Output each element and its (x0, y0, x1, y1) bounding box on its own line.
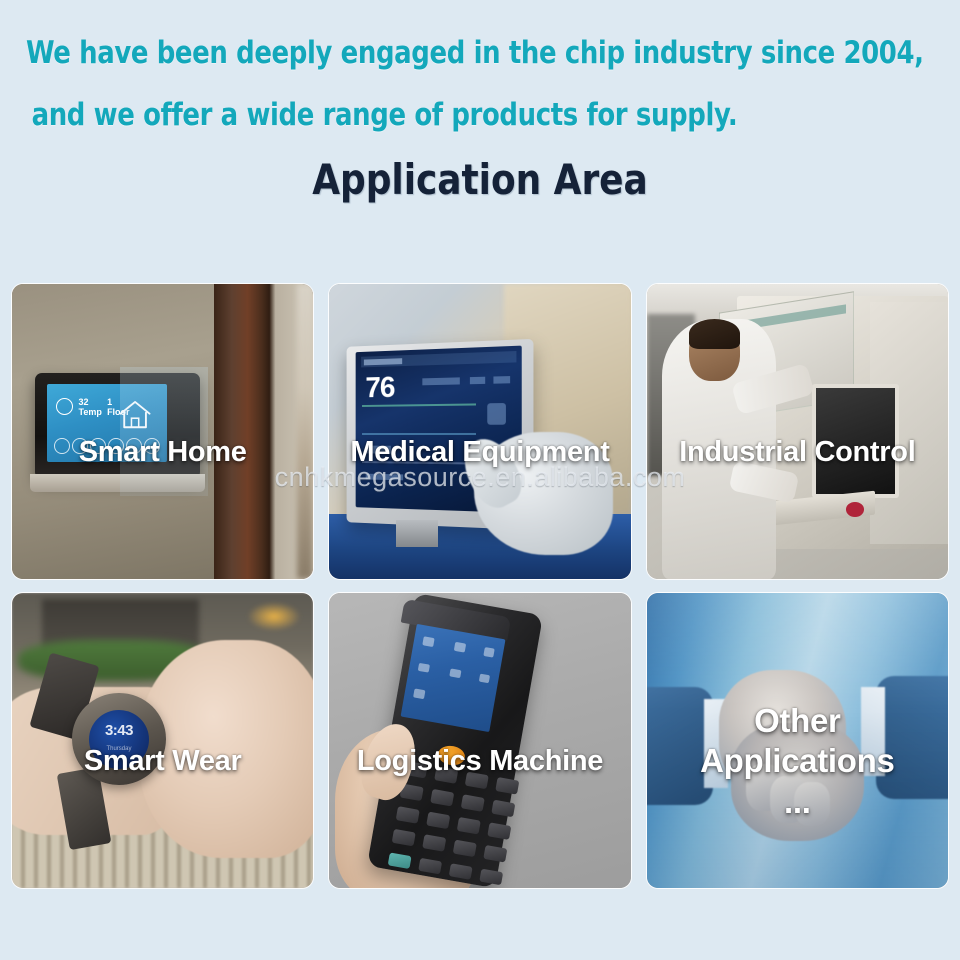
keypad-key (460, 794, 484, 811)
keypad-key (487, 823, 511, 840)
control-icon-light (54, 438, 70, 454)
control-icon-ac (90, 438, 106, 454)
desktop-icon-2 (453, 642, 465, 652)
control-icon-fan (72, 438, 88, 454)
keypad-key (452, 840, 476, 857)
keypad-key (391, 829, 415, 846)
card-other-applications[interactable]: Other Applications ... (647, 593, 948, 888)
monitor-info-bar-2 (470, 377, 486, 384)
emergency-stop-button (846, 502, 864, 517)
smartwatch-face: 3:43 Thursday (89, 710, 149, 769)
card-smart-home[interactable]: 32 Temp 1 Floor (12, 284, 313, 579)
keypad-key (426, 812, 450, 829)
page-title: Application Area (24, 155, 936, 204)
headline-block: We have been deeply engaged in the chip … (0, 22, 960, 146)
keypad-key (495, 777, 519, 794)
smart-home-scene: 32 Temp 1 Floor (12, 284, 313, 579)
keypad-key (422, 835, 446, 852)
vital-sign-value: 76 (366, 372, 395, 406)
background-room (297, 284, 313, 579)
temperature-value: 32 (79, 397, 102, 407)
desktop-icon-6 (478, 674, 490, 684)
keypad-key (395, 806, 419, 823)
monitor-info-bar-5 (366, 474, 404, 481)
monitor-info-bar-3 (494, 376, 510, 383)
watch-time: 3:43 (89, 722, 149, 739)
headline-line-2: and we offer a wide range of products fo… (26, 84, 870, 146)
card-industrial-control[interactable]: Industrial Control (647, 284, 948, 579)
waveform-trace-3 (363, 461, 477, 464)
temperature-label: Temp (79, 407, 102, 417)
logistics-machine-scene (329, 593, 630, 888)
waveform-trace-2 (363, 433, 477, 435)
keypad-key (464, 772, 488, 789)
terminal-screen (400, 624, 505, 733)
application-area-grid: 32 Temp 1 Floor (12, 284, 948, 888)
card-logistics-machine[interactable]: Logistics Machine (329, 593, 630, 888)
wood-door-frame (214, 284, 313, 579)
warm-light-blur (247, 602, 301, 632)
card-medical-equipment[interactable]: 76 Medical Equipment (329, 284, 630, 579)
glass-reflection (120, 367, 207, 497)
desktop-icon-3 (483, 648, 495, 658)
desktop-icon-4 (417, 663, 429, 673)
monitor-top-bar (361, 351, 517, 368)
card-smart-wear[interactable]: 3:43 Thursday Smart Wear (12, 593, 313, 888)
monitor-panel-right (487, 403, 506, 425)
monitor-info-bar-1 (423, 378, 460, 385)
depth-vignette (647, 593, 948, 888)
keypad-key (483, 845, 507, 862)
desktop-icon-7 (413, 689, 425, 699)
keypad-key (430, 789, 454, 806)
headline-line-1: We have been deeply engaged in the chip … (26, 22, 870, 84)
watch-day: Thursday (89, 746, 149, 752)
desktop-icon-1 (422, 637, 434, 647)
keypad-key (491, 800, 515, 817)
monitor-info-bar-4 (366, 446, 391, 454)
sun-icon (56, 398, 73, 415)
waveform-trace-1 (363, 404, 477, 407)
industrial-control-scene (647, 284, 948, 579)
temperature-readout: 32 Temp (79, 397, 102, 417)
other-applications-scene (647, 593, 948, 888)
monitor-stand (396, 520, 438, 547)
technician-hair (689, 319, 740, 349)
medical-equipment-scene: 76 (329, 284, 630, 579)
control-monitor (812, 384, 898, 498)
keypad-key (434, 766, 458, 783)
smart-wear-scene: 3:43 Thursday (12, 593, 313, 888)
keypad-key (456, 817, 480, 834)
desktop-icon-5 (449, 668, 461, 678)
